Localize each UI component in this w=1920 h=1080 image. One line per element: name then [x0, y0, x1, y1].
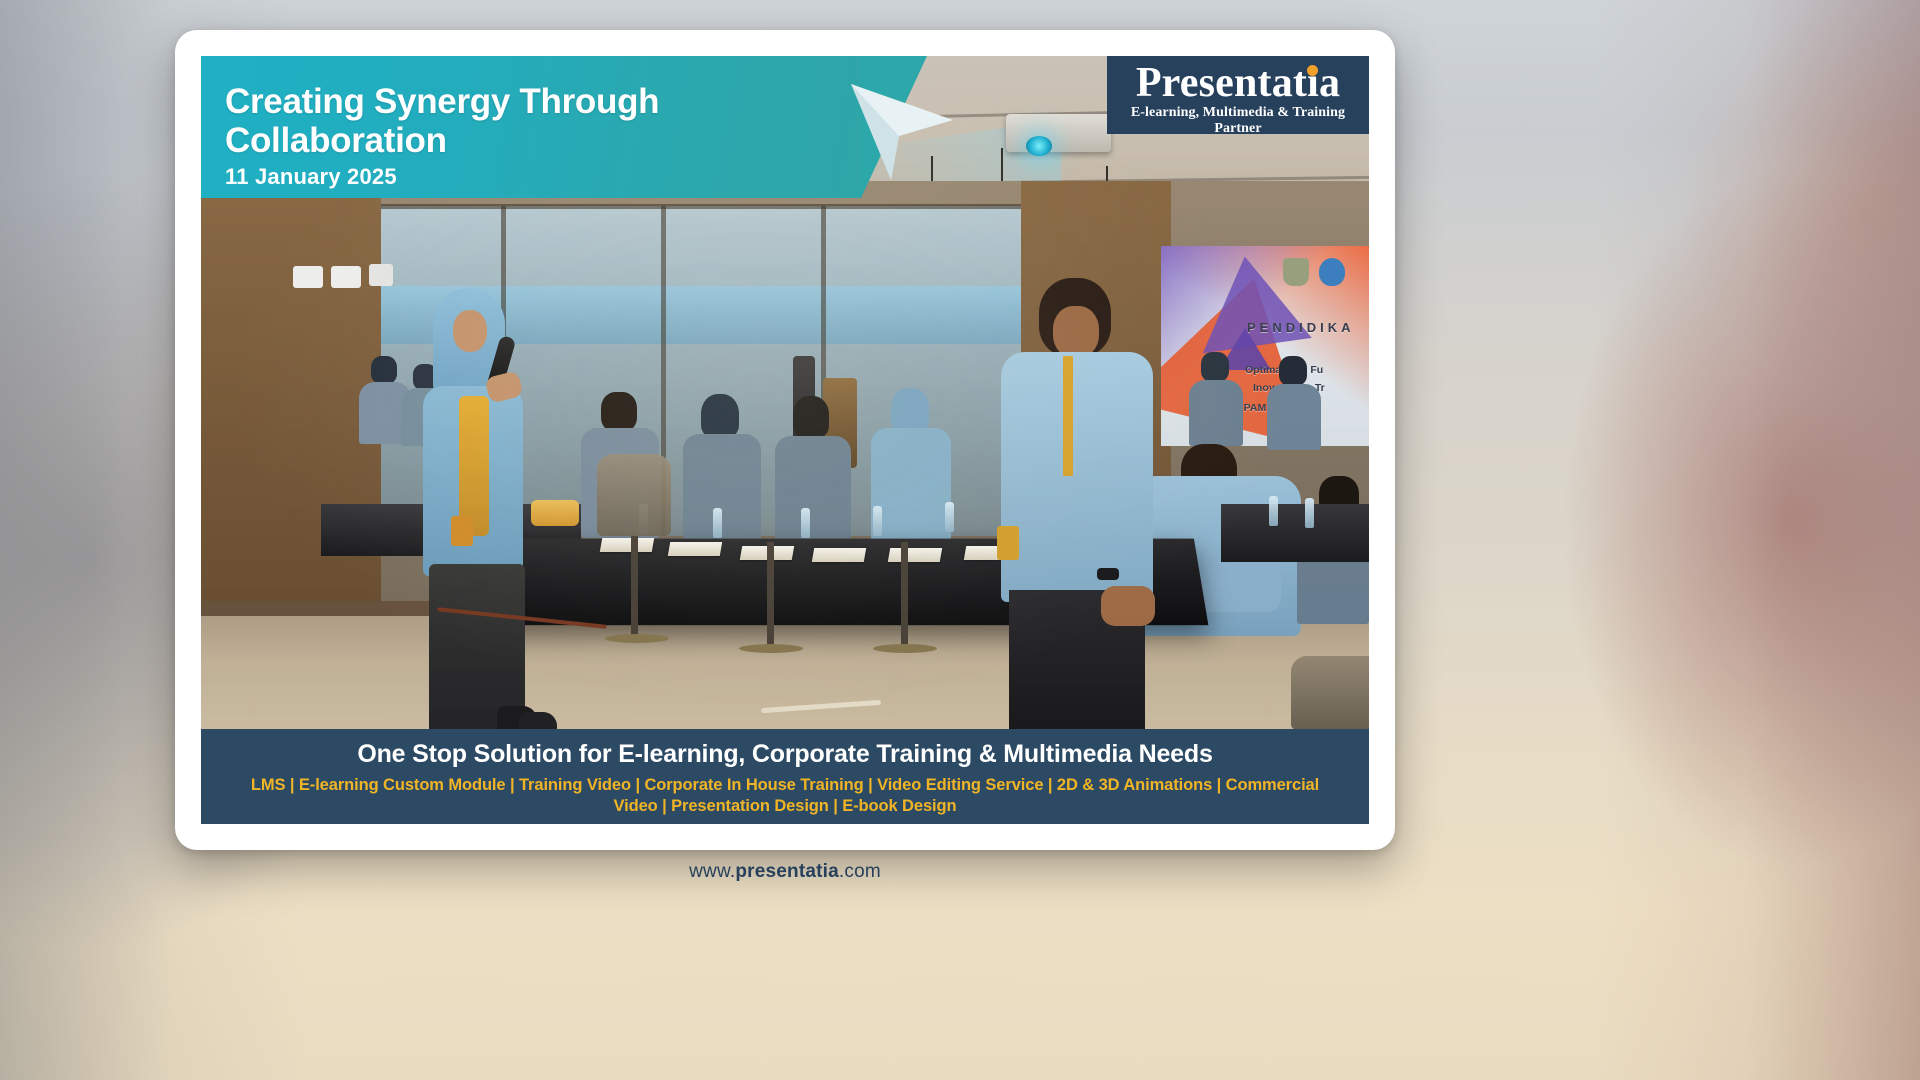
website-name: presentatia: [735, 861, 839, 882]
water-bottle: [801, 508, 810, 538]
chair: [1291, 656, 1369, 729]
chair-leg: [901, 542, 908, 646]
wristwatch: [1097, 568, 1119, 580]
ceiling-projector: [1006, 114, 1111, 152]
participant-head: [1201, 352, 1229, 382]
water-bottle: [1269, 496, 1278, 526]
participant-head-hijab: [701, 394, 739, 438]
chair: [597, 454, 671, 536]
footer-headline: One Stop Solution for E-learning, Corpor…: [201, 740, 1369, 769]
chair-base: [605, 634, 669, 643]
speaker-lanyard: [459, 396, 489, 536]
standing-man-hands: [1101, 586, 1155, 626]
participant-head: [1279, 356, 1307, 386]
water-bottle: [945, 502, 954, 532]
logo-wordmark-container: Presentatia: [1136, 62, 1340, 104]
wall-panel-control: [331, 266, 361, 288]
chair-base: [873, 644, 937, 653]
conference-table-right: [1221, 504, 1369, 562]
paper-plane-icon: [841, 76, 961, 196]
participant-body: [775, 436, 851, 540]
speaker-id-badge: [451, 516, 473, 546]
glass-mullion: [381, 204, 1021, 209]
wall-panel-control: [293, 266, 323, 288]
participant-head: [371, 356, 397, 384]
participant-body: [1189, 380, 1243, 446]
chair-base: [739, 644, 803, 653]
title-banner: Creating Synergy Through Collaboration 1…: [201, 56, 861, 198]
nameplate: [600, 538, 654, 552]
footer-services-list: LMS | E-learning Custom Module | Trainin…: [201, 775, 1369, 818]
participant-body: [683, 434, 761, 540]
standing-man-body: [1001, 352, 1153, 602]
website-url[interactable]: www.presentatia.com: [689, 861, 881, 883]
participant-head: [601, 392, 637, 432]
nameplate: [888, 548, 942, 562]
nameplate: [812, 548, 866, 562]
participant-body: [871, 428, 951, 540]
nameplate: [668, 542, 722, 556]
chair-leg: [767, 542, 774, 646]
standing-man-lanyard: [1063, 356, 1073, 476]
chair-leg: [631, 536, 638, 636]
website-prefix: www.: [689, 861, 735, 882]
poster-heading: PENDIDIKA: [1247, 320, 1355, 335]
water-bottle: [1305, 498, 1314, 528]
poster-emblem-icon: [1283, 258, 1309, 286]
presentation-card: PENDIDIKA Optimalisasi Fu Inovasi Dan Tr…: [175, 30, 1395, 850]
event-date: 11 January 2025: [225, 164, 861, 190]
participant-head-hijab: [793, 396, 829, 438]
speaker-skirt: [429, 564, 525, 729]
page-title: Creating Synergy Through Collaboration: [225, 82, 785, 160]
slide-canvas: PENDIDIKA Optimalisasi Fu Inovasi Dan Tr…: [201, 56, 1369, 824]
snack-tray: [531, 500, 579, 526]
participant-body: [1267, 384, 1321, 450]
footer-banner: One Stop Solution for E-learning, Corpor…: [201, 729, 1369, 824]
water-bottle: [713, 508, 722, 538]
projector-lens-icon: [1026, 136, 1052, 156]
speaker-shoe: [519, 712, 557, 729]
standing-man-face: [1053, 306, 1099, 358]
standing-man-badge: [997, 526, 1019, 560]
website-suffix: .com: [839, 861, 881, 882]
logo-tagline: E-learning, Multimedia & Training Partne…: [1107, 105, 1369, 137]
poster-waterdrop-icon: [1319, 258, 1345, 286]
water-bottle: [873, 506, 882, 536]
website-bar: www.presentatia.com: [201, 850, 1369, 894]
brand-logo: Presentatia E-learning, Multimedia & Tra…: [1107, 56, 1369, 134]
speaker-face: [453, 310, 487, 352]
wall-panel-control: [369, 264, 393, 286]
